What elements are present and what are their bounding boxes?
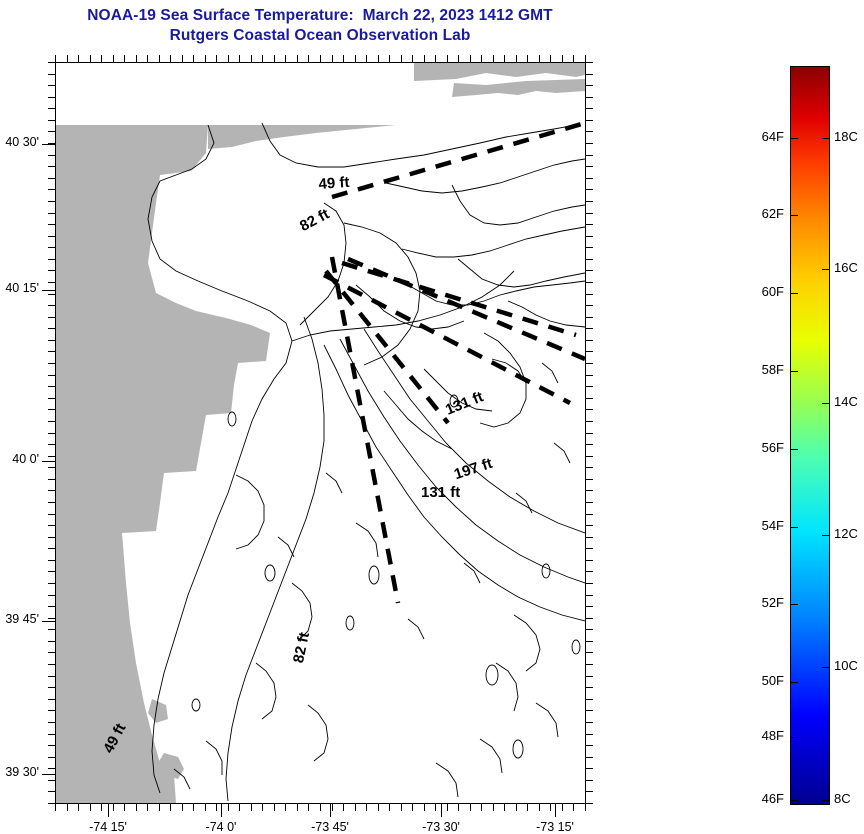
axis-tick-minor [48,606,55,607]
axis-tick-minor [586,467,593,468]
axis-tick-minor [308,55,309,62]
axis-tick-minor [435,804,436,811]
axis-tick-minor [320,804,321,811]
axis-tick-minor [48,444,55,445]
axis-tick-minor [586,270,593,271]
axis-tick-minor [48,386,55,387]
axis-tick-minor [48,537,55,538]
axis-tick-minor [504,55,505,62]
axis-tick-minor [389,55,390,62]
axis-tick-minor [48,629,55,630]
axis-tick-minor [355,804,356,811]
axis-tick-minor [586,97,593,98]
axis-tick-minor [48,803,55,804]
axis-tick-minor [586,699,593,700]
axis-tick-minor [562,55,563,62]
axis-tick-minor [424,55,425,62]
axis-tick-minor [586,595,593,596]
colorbar-tick-f [790,449,798,450]
title-line-2: Rutgers Coastal Ocean Observation Lab [0,26,640,46]
axis-tick-minor [48,351,55,352]
axis-tick-minor [48,595,55,596]
axis-tick-minor [193,804,194,811]
axis-tick-minor [516,804,517,811]
colorbar-tick-f [790,371,798,372]
axis-tick-minor [527,55,528,62]
axis-tick-minor [550,804,551,811]
axis-tick-minor [48,479,55,480]
axis-tick-minor [297,55,298,62]
axis-tick-minor [586,664,593,665]
axis-tick-minor [470,804,471,811]
axis-tick-minor [216,55,217,62]
axis-tick-minor [586,108,593,109]
axis-tick-minor [586,571,593,572]
axis-tick-minor [586,386,593,387]
axis-tick-minor [343,804,344,811]
axis-tick-major-lat [42,461,55,462]
axis-tick-minor [586,502,593,503]
axis-tick-major-lat [42,290,55,291]
axis-tick-minor [493,55,494,62]
axis-tick-minor [48,734,55,735]
axis-tick-minor [48,166,55,167]
axis-label-lat: 40 15' [0,281,39,295]
axis-tick-minor [48,514,55,515]
axis-tick-minor [401,804,402,811]
axis-tick-minor [48,340,55,341]
axis-tick-minor [586,583,593,584]
axis-tick-major-lon [555,804,556,817]
axis-tick-minor [251,55,252,62]
colorbar-tick-c [822,667,830,668]
axis-tick-minor [586,734,593,735]
axis-tick-minor [586,791,593,792]
axis-tick-minor [285,55,286,62]
feature-speckles [192,395,580,758]
axis-tick-minor [493,804,494,811]
colorbar-label-fahrenheit: 64F [734,129,784,144]
axis-tick-minor [193,55,194,62]
axis-tick-minor [586,213,593,214]
colorbar-panel[interactable] [790,66,830,805]
axis-tick-minor [412,55,413,62]
axis-tick-minor [586,433,593,434]
axis-tick-minor [573,804,574,811]
axis-tick-minor [262,55,263,62]
axis-tick-minor [48,548,55,549]
axis-tick-minor [447,55,448,62]
axis-tick-minor [48,131,55,132]
axis-tick-minor [481,804,482,811]
axis-tick-minor [586,444,593,445]
colorbar-tick-f [790,527,798,528]
axis-tick-major-lon [221,804,222,817]
axis-tick-minor [101,55,102,62]
axis-tick-minor [332,55,333,62]
axis-tick-minor [586,525,593,526]
axis-tick-minor [78,55,79,62]
axis-tick-minor [586,351,593,352]
axis-tick-minor [539,55,540,62]
axis-tick-minor [412,804,413,811]
axis-tick-minor [48,687,55,688]
axis-tick-minor [573,55,574,62]
axis-label-lat: 40 0' [0,452,39,466]
axis-tick-major-lon [330,804,331,817]
axis-tick-minor [48,259,55,260]
axis-tick-minor [48,363,55,364]
axis-tick-minor [228,804,229,811]
axis-tick-minor [67,804,68,811]
axis-tick-minor [170,55,171,62]
axis-tick-minor [48,247,55,248]
axis-tick-minor [435,55,436,62]
axis-tick-minor [470,55,471,62]
axis-tick-minor [586,710,593,711]
axis-tick-minor [48,421,55,422]
colorbar-tick-f [790,293,798,294]
axis-tick-minor [48,120,55,121]
axis-tick-minor [48,571,55,572]
axis-tick-minor [586,652,593,653]
axis-tick-minor [586,259,593,260]
axis-tick-minor [90,804,91,811]
axis-tick-minor [586,236,593,237]
axis-tick-minor [182,55,183,62]
colorbar-label-celsius: 12C [834,526,864,541]
axis-tick-minor [586,74,593,75]
axis-tick-minor [586,409,593,410]
axis-tick-minor [586,803,593,804]
axis-tick-minor [378,55,379,62]
axis-tick-minor [48,710,55,711]
depth-label: 49 ft [318,174,350,193]
colorbar-tick-f [790,800,798,801]
colorbar-label-fahrenheit: 54F [734,518,784,533]
land-mask [56,63,585,803]
axis-tick-minor [586,120,593,121]
axis-tick-minor [48,791,55,792]
axis-tick-minor [285,804,286,811]
axis-tick-minor [586,629,593,630]
axis-tick-minor [586,641,593,642]
axis-tick-minor [124,55,125,62]
axis-tick-minor [586,166,593,167]
axis-tick-minor [48,757,55,758]
axis-tick-minor [48,502,55,503]
axis-tick-minor [48,305,55,306]
axis-tick-minor [48,490,55,491]
axis-tick-minor [147,804,148,811]
axis-tick-minor [48,583,55,584]
axis-tick-minor [48,270,55,271]
axis-tick-minor [586,340,593,341]
axis-tick-minor [48,664,55,665]
axis-tick-minor [586,305,593,306]
colorbar-tick-f [790,138,798,139]
axis-tick-minor [586,490,593,491]
axis-tick-minor [48,618,55,619]
axis-tick-minor [308,804,309,811]
depth-label: 131 ft [421,484,460,501]
colorbar-label-celsius: 18C [834,129,864,144]
axis-tick-minor [504,804,505,811]
axis-tick-minor [113,55,114,62]
axis-tick-minor [48,722,55,723]
axis-tick-minor [262,804,263,811]
axis-tick-minor [48,375,55,376]
axis-tick-minor [586,201,593,202]
axis-tick-minor [481,55,482,62]
axis-tick-minor [48,525,55,526]
axis-tick-minor [48,108,55,109]
axis-tick-minor [48,433,55,434]
axis-tick-minor [55,55,56,62]
axis-tick-minor [332,804,333,811]
colorbar-label-fahrenheit: 62F [734,206,784,221]
colorbar-label-celsius: 16C [834,260,864,275]
colorbar-label-fahrenheit: 50F [734,673,784,688]
axis-tick-minor [48,317,55,318]
colorbar-tick-c [822,800,830,801]
axis-tick-minor [586,560,593,561]
axis-tick-minor [48,224,55,225]
colorbar-tick-c [822,535,830,536]
sst-map-plot[interactable]: 49 ft 82 ft 131 ft 197 ft 131 ft 82 ft 4… [55,62,586,804]
axis-tick-minor [586,131,593,132]
axis-tick-minor [586,328,593,329]
axis-tick-major-lat [42,774,55,775]
axis-tick-minor [586,363,593,364]
title-line-1: NOAA-19 Sea Surface Temperature: March 2… [0,6,640,26]
colorbar-label-fahrenheit: 52F [734,595,784,610]
axis-tick-minor [48,74,55,75]
axis-tick-minor [228,55,229,62]
axis-tick-minor [366,55,367,62]
axis-tick-minor [585,804,586,811]
axis-tick-minor [586,768,593,769]
axis-tick-minor [170,804,171,811]
axis-tick-minor [113,804,114,811]
axis-tick-minor [48,745,55,746]
axis-tick-minor [239,804,240,811]
axis-tick-major-lat [42,621,55,622]
axis-tick-minor [355,55,356,62]
axis-tick-minor [458,55,459,62]
colorbar-label-celsius: 8C [834,791,864,806]
axis-tick-minor [586,143,593,144]
axis-tick-minor [447,804,448,811]
axis-tick-minor [516,55,517,62]
axis-tick-minor [55,804,56,811]
colorbar-label-fahrenheit: 56F [734,440,784,455]
colorbar-label-fahrenheit: 48F [734,728,784,743]
axis-tick-minor [239,55,240,62]
axis-tick-minor [389,804,390,811]
axis-tick-minor [251,804,252,811]
axis-tick-minor [586,178,593,179]
axis-tick-minor [366,804,367,811]
axis-tick-minor [48,189,55,190]
colorbar-label-celsius: 10C [834,658,864,673]
axis-tick-minor [550,55,551,62]
colorbar-tick-c [822,403,830,404]
axis-label-lat: 39 45' [0,612,39,626]
axis-tick-minor [586,618,593,619]
colorbar-label-fahrenheit: 58F [734,362,784,377]
axis-tick-minor [586,537,593,538]
axis-tick-minor [586,375,593,376]
axis-tick-minor [586,722,593,723]
axis-label-lat: 40 30' [0,135,39,149]
axis-tick-minor [90,55,91,62]
colorbar-label-celsius: 14C [834,394,864,409]
axis-tick-minor [205,55,206,62]
colorbar-tick-c [822,269,830,270]
axis-tick-minor [458,804,459,811]
axis-tick-minor [586,155,593,156]
axis-tick-minor [48,155,55,156]
axis-tick-minor [586,398,593,399]
axis-tick-minor [48,236,55,237]
transect-lines [324,123,585,603]
axis-tick-minor [343,55,344,62]
axis-tick-minor [48,641,55,642]
axis-tick-minor [586,780,593,781]
axis-tick-minor [586,224,593,225]
coastline-contours [148,123,585,801]
colorbar-label-fahrenheit: 46F [734,791,784,806]
axis-tick-minor [48,409,55,410]
axis-tick-minor [48,201,55,202]
axis-tick-minor [586,421,593,422]
axis-tick-minor [48,62,55,63]
axis-tick-minor [297,804,298,811]
axis-tick-minor [586,676,593,677]
colorbar-label-fahrenheit: 60F [734,284,784,299]
axis-tick-minor [539,804,540,811]
axis-tick-minor [182,804,183,811]
axis-tick-minor [527,804,528,811]
axis-tick-minor [205,804,206,811]
axis-tick-minor [586,294,593,295]
colorbar-tick-f [790,604,798,605]
colorbar-tick-c [822,138,830,139]
axis-tick-minor [586,247,593,248]
axis-tick-minor [136,804,137,811]
axis-tick-minor [48,560,55,561]
axis-tick-major-lon [441,804,442,817]
axis-tick-minor [124,804,125,811]
axis-tick-minor [586,687,593,688]
axis-tick-minor [48,398,55,399]
axis-tick-minor [78,804,79,811]
colorbar-tick-f [790,737,798,738]
axis-tick-minor [378,804,379,811]
axis-tick-minor [48,178,55,179]
axis-tick-minor [274,804,275,811]
axis-tick-minor [586,282,593,283]
axis-tick-minor [48,85,55,86]
axis-tick-minor [48,213,55,214]
axis-tick-minor [48,467,55,468]
axis-tick-minor [48,294,55,295]
axis-tick-minor [48,768,55,769]
axis-label-lat: 39 30' [0,765,39,779]
axis-tick-minor [586,514,593,515]
axis-tick-minor [586,606,593,607]
axis-tick-minor [48,652,55,653]
colorbar-tick-f [790,682,798,683]
map-graphics [56,63,585,803]
axis-tick-minor [48,97,55,98]
axis-tick-minor [159,804,160,811]
colorbar-tick-f [790,215,798,216]
chart-title: NOAA-19 Sea Surface Temperature: March 2… [0,6,640,46]
axis-tick-minor [586,189,593,190]
axis-tick-minor [48,780,55,781]
axis-tick-minor [401,55,402,62]
axis-tick-major-lat [42,144,55,145]
axis-tick-minor [424,804,425,811]
axis-tick-minor [586,317,593,318]
axis-tick-minor [586,85,593,86]
axis-tick-minor [136,55,137,62]
colorbar-gradient [790,66,830,805]
axis-tick-major-lon [108,804,109,817]
axis-tick-minor [586,548,593,549]
axis-tick-minor [48,699,55,700]
axis-tick-minor [274,55,275,62]
axis-tick-minor [586,745,593,746]
axis-tick-minor [320,55,321,62]
axis-tick-minor [586,757,593,758]
axis-tick-minor [159,55,160,62]
axis-tick-minor [48,282,55,283]
axis-tick-minor [586,456,593,457]
axis-tick-minor [48,676,55,677]
axis-tick-minor [101,804,102,811]
axis-tick-minor [48,456,55,457]
axis-tick-minor [48,328,55,329]
axis-tick-minor [586,62,593,63]
axis-tick-minor [562,804,563,811]
axis-tick-minor [585,55,586,62]
axis-tick-minor [67,55,68,62]
axis-tick-minor [147,55,148,62]
axis-tick-minor [216,804,217,811]
axis-tick-minor [586,479,593,480]
